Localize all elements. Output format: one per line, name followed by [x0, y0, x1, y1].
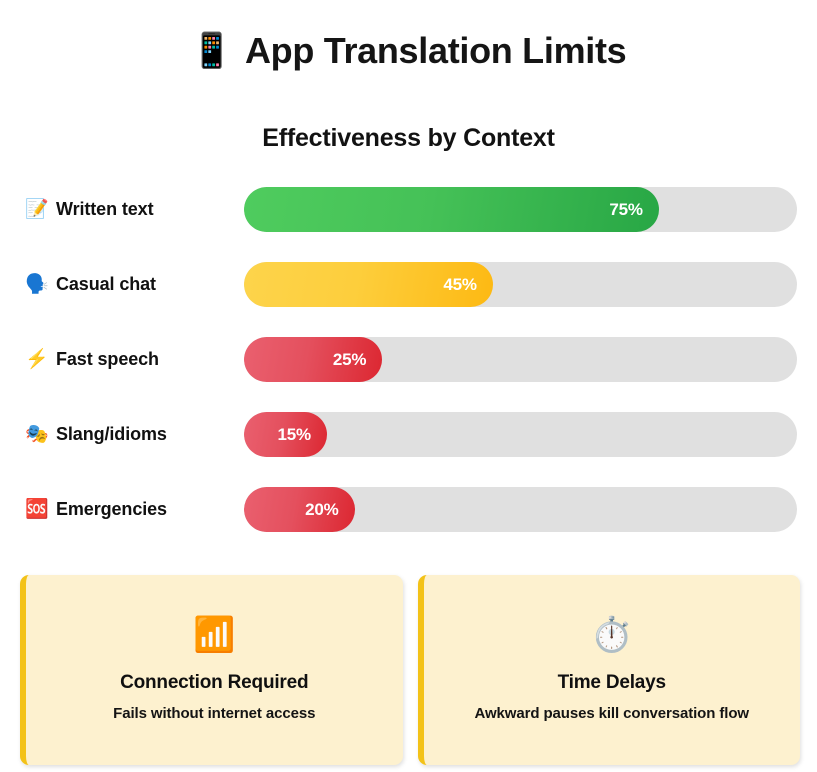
bar-fill: 45% [244, 262, 493, 307]
page-title: 📱 App Translation Limits [0, 22, 817, 80]
bar-fill: 25% [244, 337, 382, 382]
sos-icon: 🆘 [25, 500, 47, 519]
bar-row-label: 📝Written text [25, 186, 153, 233]
antenna-bars-icon: 📶 [193, 618, 235, 652]
bar-row-label: 🗣️Casual chat [25, 261, 156, 308]
bar-row: ⚡Fast speech25% [0, 336, 817, 383]
bar-row-label: 🆘Emergencies [25, 486, 167, 533]
bar-track: 15% [244, 412, 797, 457]
bar-row: 🆘Emergencies20% [0, 486, 817, 533]
page-title-text: App Translation Limits [245, 30, 626, 72]
limitation-card: 📶Connection RequiredFails without intern… [20, 575, 403, 765]
bar-value-label: 20% [305, 500, 354, 520]
bar-fill: 15% [244, 412, 327, 457]
bar-track: 45% [244, 262, 797, 307]
infographic-page: 📱 App Translation Limits Effectiveness b… [0, 0, 817, 772]
performing-arts-icon: 🎭 [25, 425, 47, 444]
bar-track: 20% [244, 487, 797, 532]
bar-row-label: 🎭Slang/idioms [25, 411, 167, 458]
bar-value-label: 25% [333, 350, 382, 370]
bar-row-label: ⚡Fast speech [25, 336, 159, 383]
bar-row-label-text: Written text [56, 199, 153, 220]
memo-icon: 📝 [25, 200, 47, 219]
bar-row: 📝Written text75% [0, 186, 817, 233]
speaking-head-icon: 🗣️ [25, 275, 47, 294]
bar-row-label-text: Emergencies [56, 499, 167, 520]
limitation-card-description: Awkward pauses kill conversation flow [475, 705, 749, 722]
bar-track: 75% [244, 187, 797, 232]
limitation-card-description: Fails without internet access [113, 705, 315, 722]
limitation-card: ⏱️Time DelaysAwkward pauses kill convers… [418, 575, 801, 765]
mobile-phone-icon: 📱 [191, 34, 233, 68]
bar-row-label-text: Slang/idioms [56, 424, 167, 445]
limitation-cards: 📶Connection RequiredFails without intern… [20, 575, 800, 765]
bar-track: 25% [244, 337, 797, 382]
limitation-card-title: Time Delays [558, 672, 666, 694]
section-subtitle: Effectiveness by Context [0, 124, 817, 153]
lightning-bolt-icon: ⚡ [25, 350, 47, 369]
bar-fill: 75% [244, 187, 659, 232]
bar-row-label-text: Fast speech [56, 349, 159, 370]
bar-value-label: 45% [443, 275, 492, 295]
bar-row-label-text: Casual chat [56, 274, 156, 295]
bar-row: 🎭Slang/idioms15% [0, 411, 817, 458]
effectiveness-bar-chart: 📝Written text75%🗣️Casual chat45%⚡Fast sp… [0, 186, 817, 561]
limitation-card-title: Connection Required [120, 672, 308, 694]
bar-value-label: 75% [609, 200, 658, 220]
stopwatch-icon: ⏱️ [591, 618, 633, 652]
bar-value-label: 15% [278, 425, 327, 445]
bar-row: 🗣️Casual chat45% [0, 261, 817, 308]
bar-fill: 20% [244, 487, 355, 532]
